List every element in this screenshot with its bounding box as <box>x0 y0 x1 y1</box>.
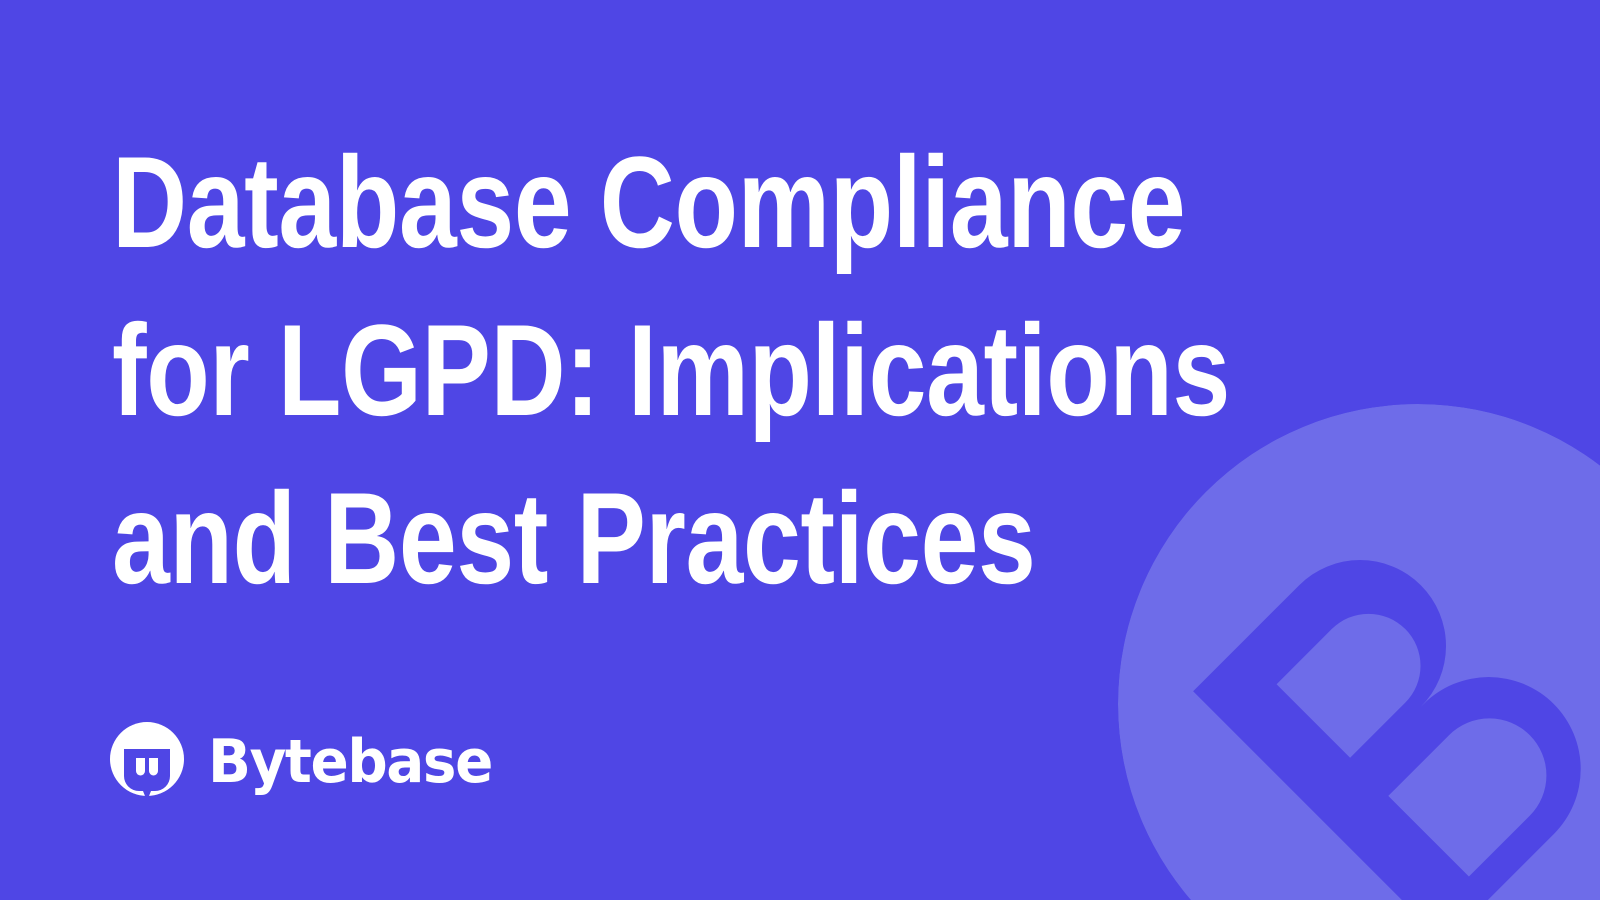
page-title: Database Compliance for LGPD: Implicatio… <box>112 118 1382 622</box>
brand-logo: Bytebase <box>108 722 510 802</box>
title-line-3: and Best Practices <box>112 454 1128 622</box>
title-line-1: Database Compliance <box>112 118 1128 286</box>
brand-wordmark: Bytebase <box>208 731 492 793</box>
bytebase-logo-icon <box>108 722 186 802</box>
og-card: Database Compliance for LGPD: Implicatio… <box>0 0 1600 900</box>
title-line-2: for LGPD: Implications <box>112 286 1128 454</box>
